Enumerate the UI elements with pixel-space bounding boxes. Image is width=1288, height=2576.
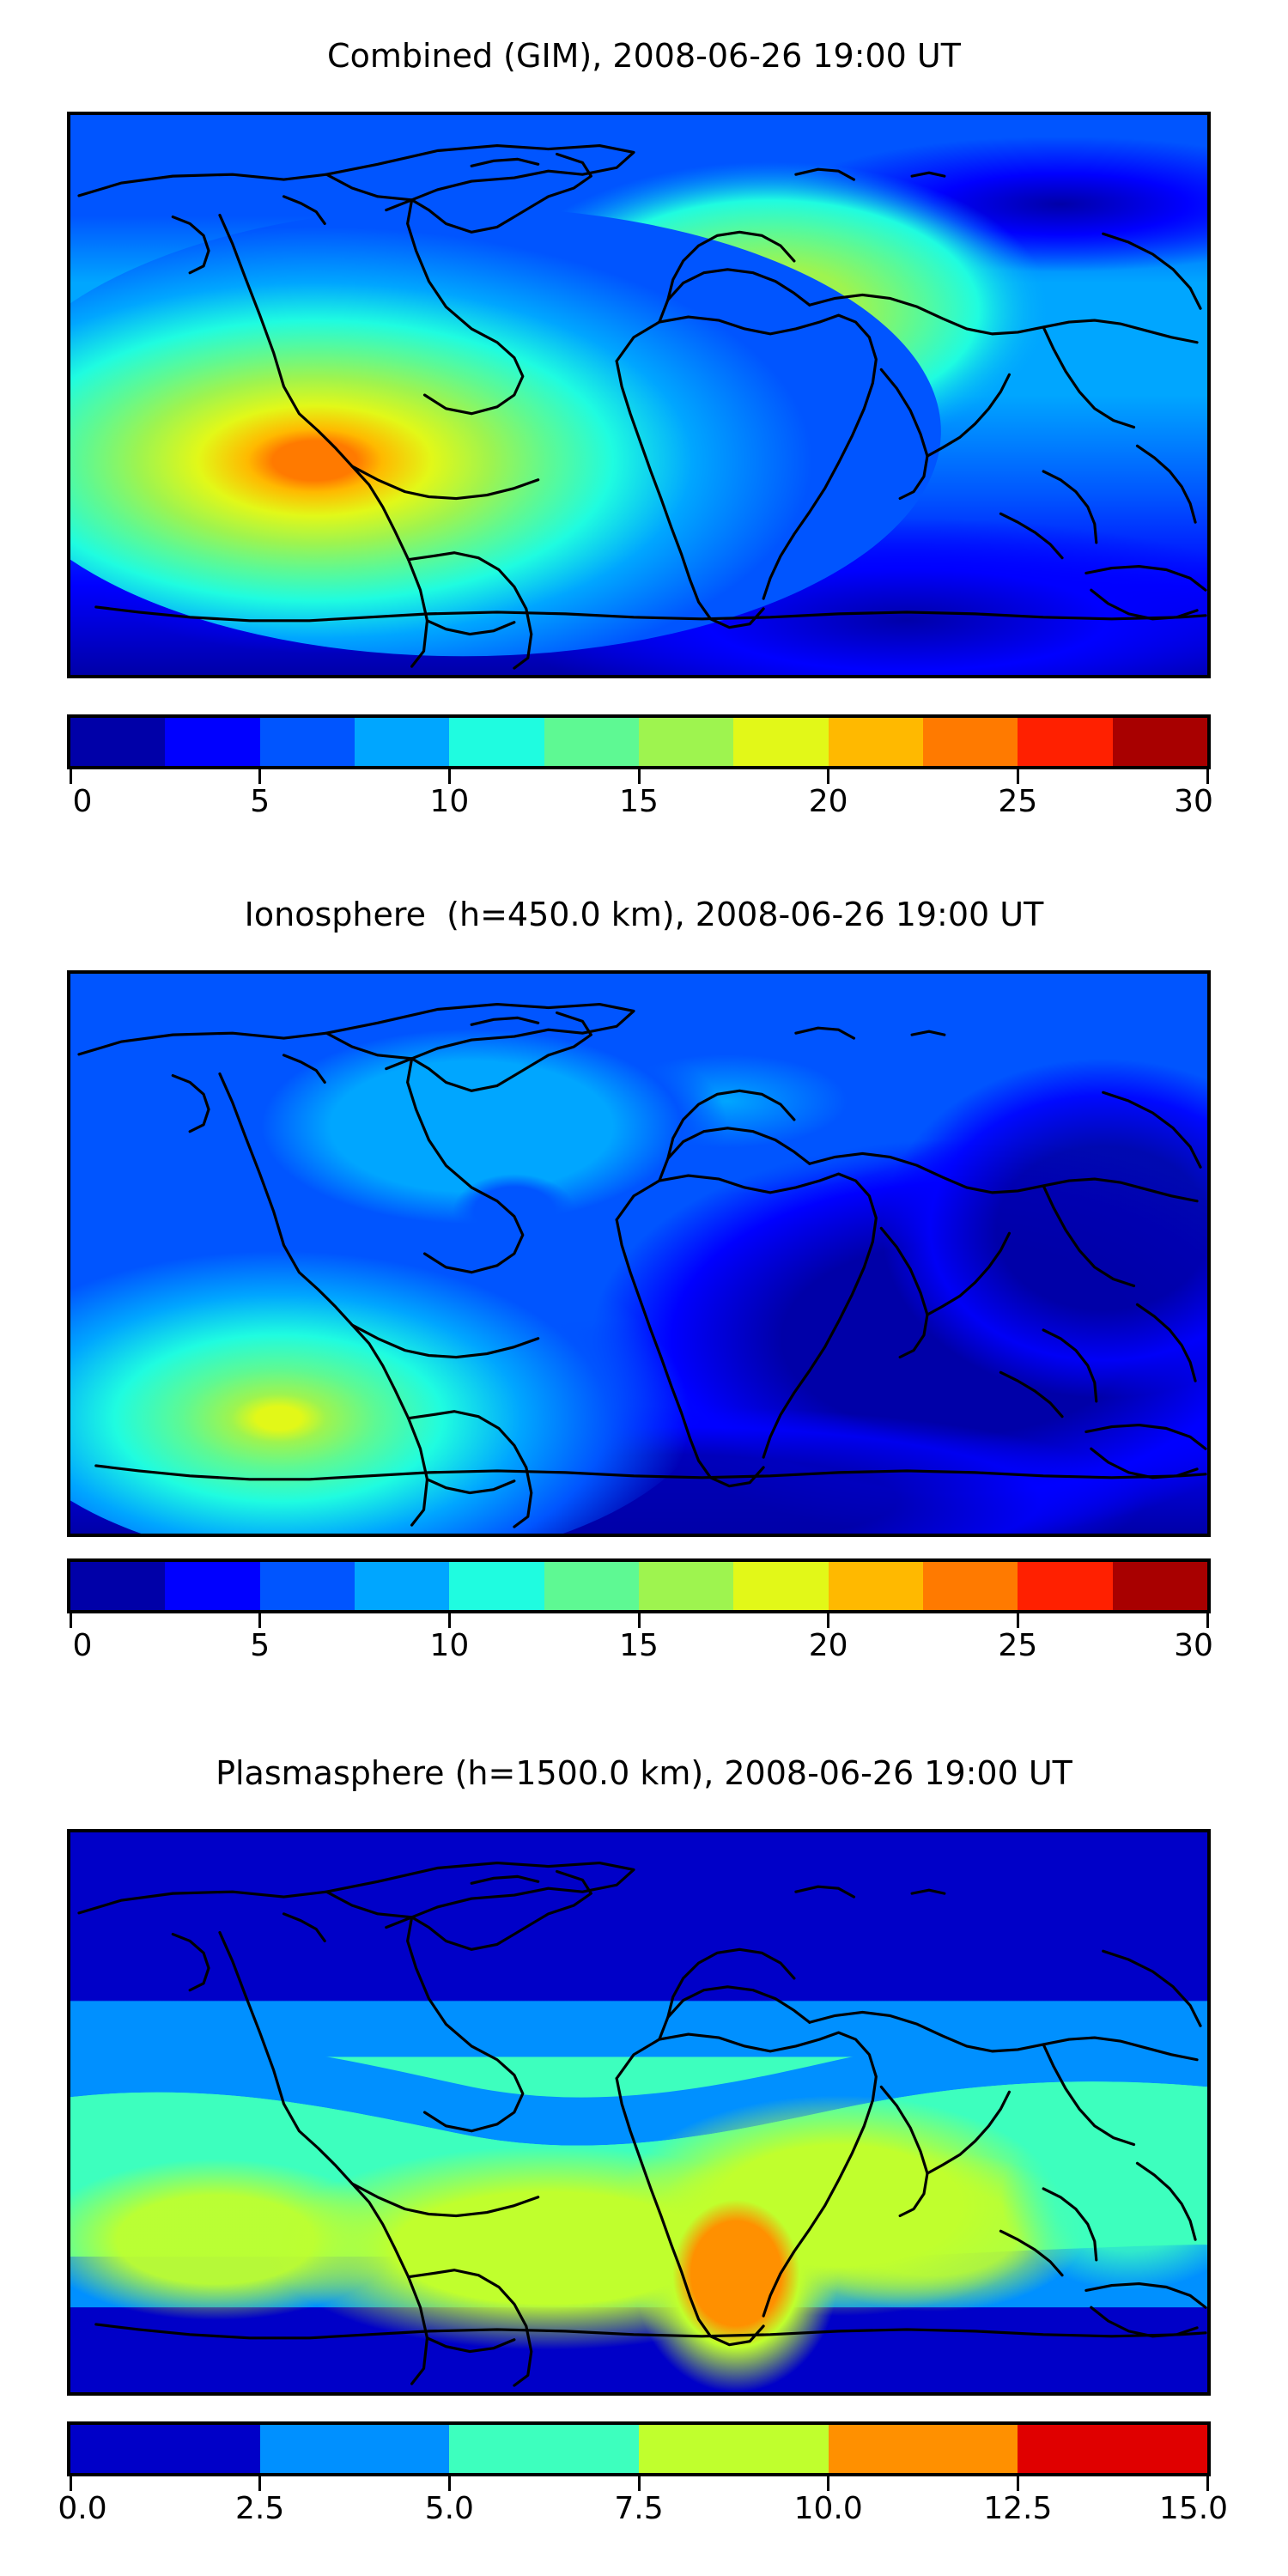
colorbar-tick	[827, 2476, 829, 2491]
colorbar-segment	[1113, 718, 1207, 766]
colorbar-tick-label: 30	[1174, 787, 1213, 817]
colorbar-segment	[639, 2425, 829, 2473]
colorbar-tick-label: 0	[73, 1631, 93, 1662]
colorbar-tick	[1017, 1613, 1019, 1628]
colorbar-segment	[544, 1562, 639, 1610]
colorbar-axis-ionosphere: 051015202530	[67, 1613, 1211, 1670]
colorbar-segment	[829, 1562, 923, 1610]
panel-combined-gim: Combined (GIM), 2008-06-26 19:00 UT	[0, 0, 1288, 859]
colorbar-segment	[355, 1562, 449, 1610]
colorbar-tick	[1017, 769, 1019, 784]
colorbar-tick	[258, 769, 261, 784]
colorbar-tick-label: 0.0	[58, 2494, 106, 2524]
colorbar-tick	[827, 1613, 829, 1628]
colorbar-segment	[733, 1562, 828, 1610]
colorbar-tick-label: 0	[73, 787, 93, 817]
colorbar-segment	[923, 1562, 1018, 1610]
colorbar-tick	[1017, 2476, 1019, 2491]
colorbar-tick-label: 30	[1174, 1631, 1213, 1662]
panel-title-combined-gim: Combined (GIM), 2008-06-26 19:00 UT	[0, 39, 1288, 72]
panel-title-plasmasphere: Plasmasphere (h=1500.0 km), 2008-06-26 1…	[0, 1757, 1288, 1789]
colorbar-tick	[258, 1613, 261, 1628]
colorbar-segment	[639, 1562, 733, 1610]
colorbar-segment	[923, 718, 1018, 766]
colorbar-axis-plasmasphere: 0.02.55.07.510.012.515.0	[67, 2476, 1211, 2533]
colorbar-wrap-ionosphere: 051015202530	[67, 1558, 1211, 1670]
colorbar-segment	[829, 718, 923, 766]
colorbar-tick-label: 10	[429, 1631, 469, 1662]
colorbar-tick-label: 7.5	[614, 2494, 663, 2524]
colorbar-segment	[829, 2425, 1018, 2473]
panel-plasmasphere: Plasmasphere (h=1500.0 km), 2008-06-26 1…	[0, 1717, 1288, 2576]
map-plasmasphere	[67, 1829, 1211, 2396]
colorbar-tick-label: 15	[619, 1631, 659, 1662]
colorbar-combined-gim[interactable]	[67, 714, 1211, 769]
colorbar-tick-label: 20	[809, 1631, 848, 1662]
colorbar-tick	[827, 769, 829, 784]
colorbar-tick	[638, 769, 641, 784]
colorbar-tick	[1206, 769, 1209, 784]
colorbar-segment	[733, 718, 828, 766]
colorbar-tick	[70, 1613, 72, 1628]
colorbar-segment	[449, 2425, 639, 2473]
colorbar-segment	[1113, 1562, 1207, 1610]
colorbar-tick	[1206, 2476, 1209, 2491]
map-canvas-plasmasphere	[70, 1832, 1207, 2392]
colorbar-segment	[449, 1562, 544, 1610]
map-combined-gim	[67, 112, 1211, 678]
colorbar-segment	[1018, 2425, 1207, 2473]
colorbar-tick	[70, 769, 72, 784]
colorbar-segment	[260, 2425, 450, 2473]
colorbar-segment	[1018, 1562, 1112, 1610]
colorbar-segment	[355, 718, 449, 766]
colorbar-tick-label: 5	[250, 787, 270, 817]
map-ionosphere	[67, 970, 1211, 1537]
colorbar-tick-label: 12.5	[983, 2494, 1052, 2524]
colorbar-tick-label: 5	[250, 1631, 270, 1662]
colorbar-tick	[70, 2476, 72, 2491]
colorbar-segment	[165, 1562, 259, 1610]
colorbar-tick-label: 20	[809, 787, 848, 817]
colorbar-tick	[448, 1613, 451, 1628]
colorbar-tick-label: 10.0	[794, 2494, 863, 2524]
colorbar-tick	[448, 2476, 451, 2491]
panel-title-ionosphere: Ionosphere (h=450.0 km), 2008-06-26 19:0…	[0, 898, 1288, 931]
tec-map-figure: Combined (GIM), 2008-06-26 19:00 UT	[0, 0, 1288, 2576]
colorbar-segment	[639, 718, 733, 766]
colorbar-tick-label: 15.0	[1159, 2494, 1228, 2524]
colorbar-segment	[70, 718, 165, 766]
colorbar-tick-label: 2.5	[235, 2494, 284, 2524]
colorbar-segment	[260, 1562, 355, 1610]
colorbar-segment	[449, 718, 544, 766]
colorbar-ionosphere[interactable]	[67, 1558, 1211, 1613]
colorbar-tick-label: 25	[998, 787, 1037, 817]
colorbar-tick	[448, 769, 451, 784]
colorbar-tick-label: 15	[619, 787, 659, 817]
colorbar-segment	[70, 1562, 165, 1610]
colorbar-tick	[638, 1613, 641, 1628]
colorbar-axis-combined-gim: 051015202530	[67, 769, 1211, 826]
colorbar-plasmasphere[interactable]	[67, 2421, 1211, 2476]
colorbar-tick	[1206, 1613, 1209, 1628]
colorbar-tick-label: 5.0	[425, 2494, 474, 2524]
colorbar-segment	[1018, 718, 1112, 766]
map-canvas-ionosphere	[70, 974, 1207, 1534]
map-canvas-combined-gim	[70, 115, 1207, 675]
colorbar-tick-label: 25	[998, 1631, 1037, 1662]
colorbar-wrap-combined-gim: 051015202530	[67, 714, 1211, 826]
panel-ionosphere: Ionosphere (h=450.0 km), 2008-06-26 19:0…	[0, 859, 1288, 1717]
colorbar-segment	[544, 718, 639, 766]
colorbar-segment	[260, 718, 355, 766]
colorbar-tick	[258, 2476, 261, 2491]
colorbar-tick-label: 10	[429, 787, 469, 817]
colorbar-segment	[70, 2425, 260, 2473]
colorbar-wrap-plasmasphere: 0.02.55.07.510.012.515.0	[67, 2421, 1211, 2533]
colorbar-segment	[165, 718, 259, 766]
colorbar-tick	[638, 2476, 641, 2491]
